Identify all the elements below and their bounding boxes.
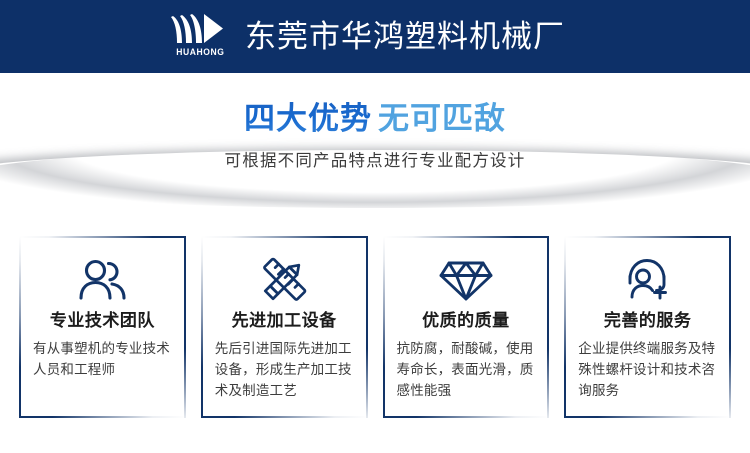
feature-card-advanced-equipment[interactable]: 先进加工设备 先后引进国际先进加工设备，形成生产加工技术及制造工艺 — [201, 236, 368, 418]
card-border-top — [19, 236, 186, 238]
card-border-bottom — [201, 416, 368, 418]
diamond-icon — [438, 254, 494, 306]
header-brand: HUAHONG 东莞市华鸿塑料机械厂 — [169, 12, 565, 62]
site-header: HUAHONG 东莞市华鸿塑料机械厂 — [0, 0, 750, 73]
hero-subtitle: 可根据不同产品特点进行专业配方设计 — [0, 147, 750, 171]
feature-card-professional-team[interactable]: 专业技术团队 有从事塑机的专业技术人员和工程师 — [19, 236, 186, 418]
card-description: 有从事塑机的专业技术人员和工程师 — [31, 339, 174, 381]
card-border-left — [19, 236, 21, 418]
page-title: 东莞市华鸿塑料机械厂 — [245, 21, 565, 52]
card-title: 完善的服务 — [604, 312, 692, 329]
card-border-top — [201, 236, 368, 238]
card-border-right — [547, 236, 549, 418]
hero-heading-primary: 四大优势 — [244, 101, 372, 136]
card-border-bottom — [564, 416, 731, 418]
card-description: 先后引进国际先进加工设备，形成生产加工技术及制造工艺 — [213, 339, 356, 402]
card-title: 优质的质量 — [422, 312, 510, 329]
promo-banner-page: HUAHONG 东莞市华鸿塑料机械厂 四大优势无可匹敌 可根据不同产品特点进行专… — [0, 0, 750, 453]
card-border-top — [383, 236, 550, 238]
card-border-right — [729, 236, 731, 418]
ruler-and-pencil-icon — [259, 254, 309, 306]
two-people-icon — [76, 254, 128, 306]
hero-section: 四大优势无可匹敌 可根据不同产品特点进行专业配方设计 — [0, 73, 750, 200]
card-border-right — [184, 236, 186, 418]
card-border-bottom — [19, 416, 186, 418]
hero-heading-secondary: 无可匹敌 — [378, 101, 506, 136]
card-border-left — [383, 236, 385, 418]
card-border-left — [564, 236, 566, 418]
card-title: 专业技术团队 — [50, 312, 155, 329]
card-border-top — [564, 236, 731, 238]
feature-card-list: 专业技术团队 有从事塑机的专业技术人员和工程师 — [19, 236, 731, 418]
hero-heading: 四大优势无可匹敌 — [0, 73, 750, 137]
huahong-wave-mark-icon: HUAHONG — [169, 12, 231, 62]
card-border-left — [201, 236, 203, 418]
card-title: 先进加工设备 — [232, 312, 337, 329]
card-description: 企业提供终端服务及特殊性螺杆设计和技术咨询服务 — [576, 339, 719, 402]
card-border-right — [366, 236, 368, 418]
logo-wordmark: HUAHONG — [176, 48, 224, 57]
card-border-bottom — [383, 416, 550, 418]
feature-card-quality[interactable]: 优质的质量 抗防腐，耐酸碱，使用寿命长，表面光滑，质感性能强 — [383, 236, 550, 418]
feature-card-service[interactable]: 完善的服务 企业提供终端服务及特殊性螺杆设计和技术咨询服务 — [564, 236, 731, 418]
card-description: 抗防腐，耐酸碱，使用寿命长，表面光滑，质感性能强 — [395, 339, 538, 402]
headset-support-plus-icon — [623, 254, 673, 306]
